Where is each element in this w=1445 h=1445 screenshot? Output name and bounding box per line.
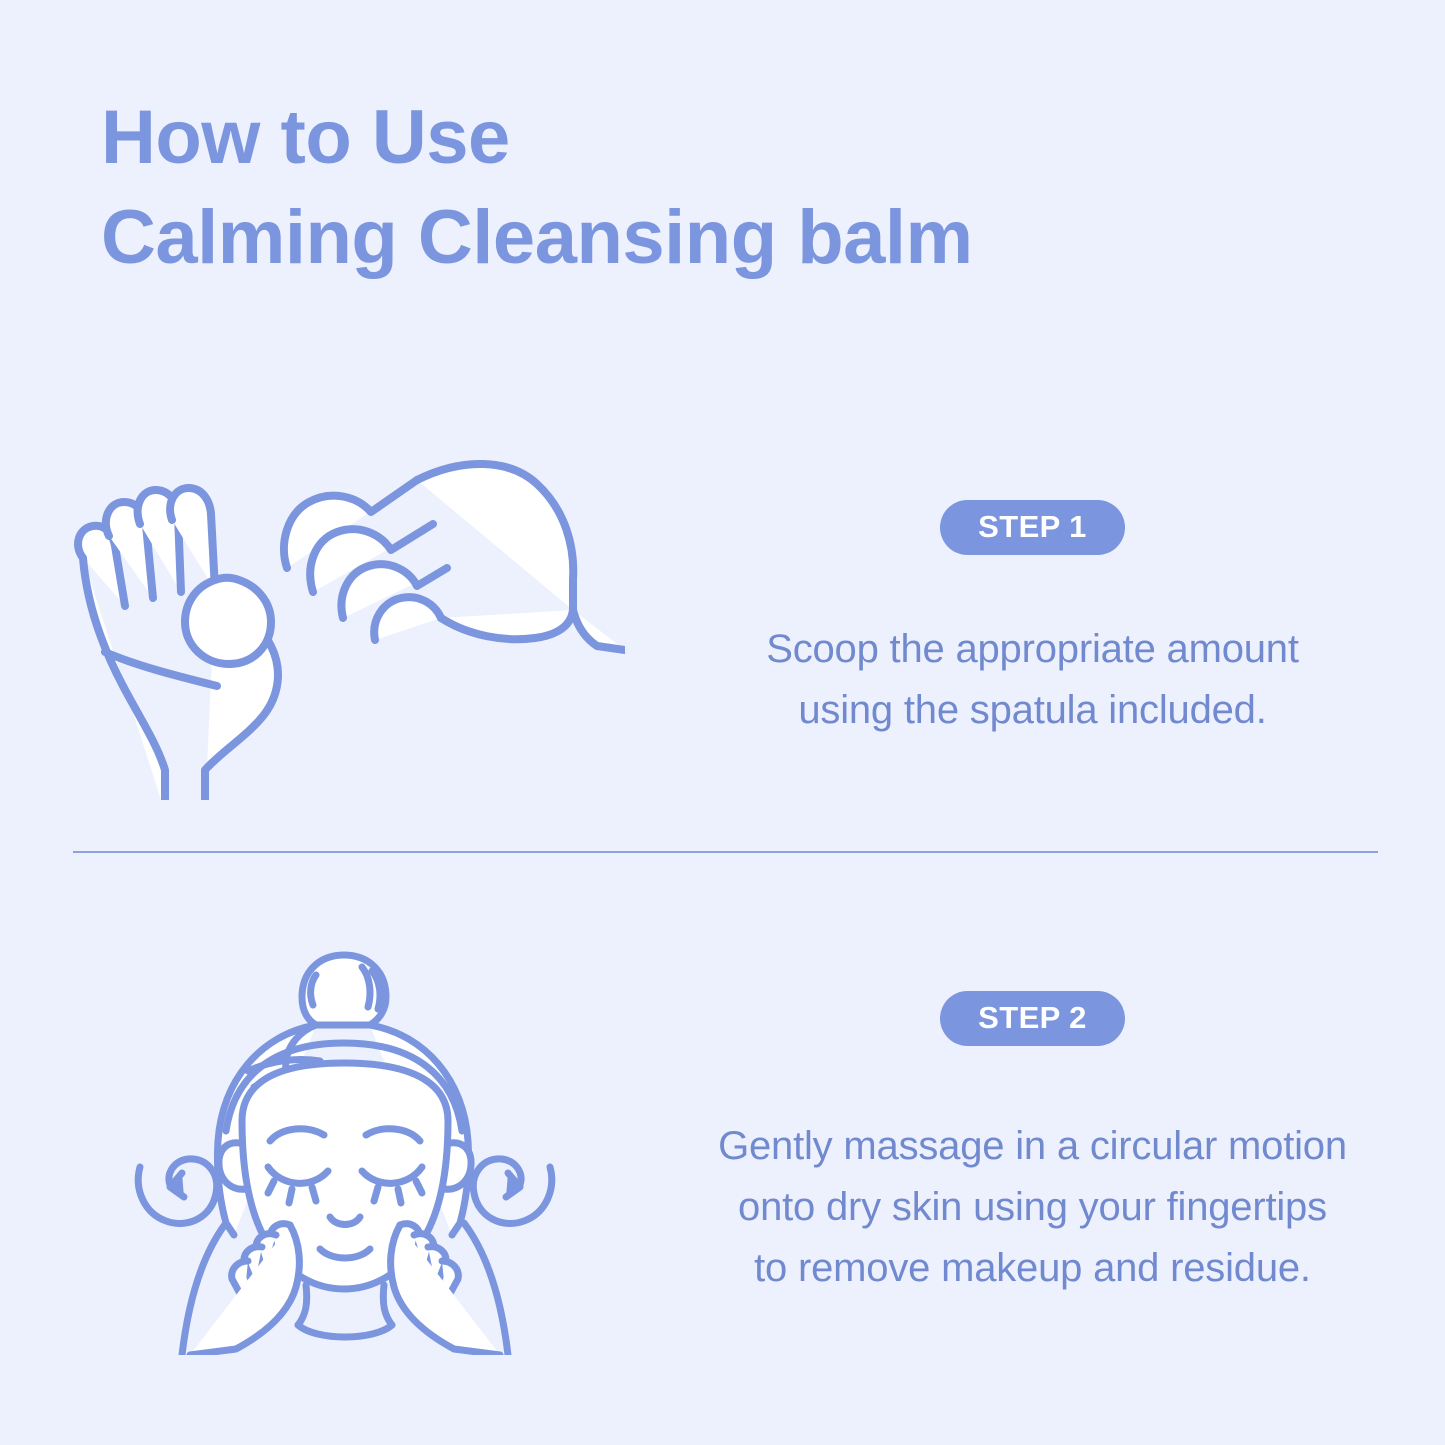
step-2-row: STEP 2 Gently massage in a circular moti… <box>0 930 1445 1360</box>
step-1-description-line-1: Scoop the appropriate amount <box>766 619 1299 680</box>
step-1-description-line-2: using the spatula included. <box>766 680 1299 741</box>
step-2-description-line-3: to remove makeup and residue. <box>718 1238 1347 1299</box>
page-title-line-1: How to Use <box>101 88 1201 188</box>
page-title-line-2: Calming Cleansing balm <box>101 188 1201 288</box>
step-2-illustration-cell <box>0 930 690 1360</box>
step-1-text-cell: STEP 1 Scoop the appropriate amount usin… <box>690 420 1445 820</box>
step-1-illustration-cell <box>0 420 690 820</box>
step-2-badge: STEP 2 <box>940 991 1125 1046</box>
step-2-description-line-1: Gently massage in a circular motion <box>718 1116 1347 1177</box>
hands-scooping-balm-with-spatula-icon <box>65 440 625 800</box>
page-title: How to Use Calming Cleansing balm <box>101 88 1201 289</box>
step-2-description-line-2: onto dry skin using your fingertips <box>718 1177 1347 1238</box>
step-2-text-cell: STEP 2 Gently massage in a circular moti… <box>690 930 1445 1360</box>
step-1-badge: STEP 1 <box>940 500 1125 555</box>
step-1-description: Scoop the appropriate amount using the s… <box>766 619 1299 741</box>
how-to-use-infographic: How to Use Calming Cleansing balm <box>0 0 1445 1445</box>
step-2-description: Gently massage in a circular motion onto… <box>718 1116 1347 1298</box>
step-1-row: STEP 1 Scoop the appropriate amount usin… <box>0 420 1445 820</box>
woman-massaging-face-with-fingertips-icon <box>130 935 560 1355</box>
section-divider <box>73 851 1378 853</box>
